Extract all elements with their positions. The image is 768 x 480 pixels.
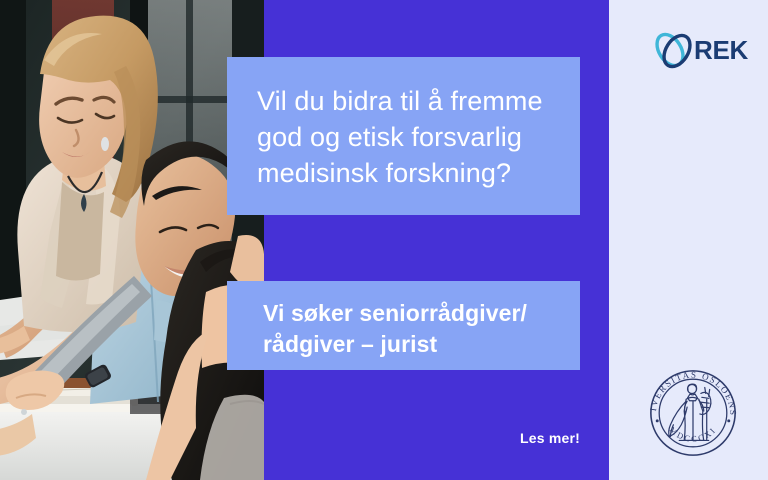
- job-advertisement-banner: Vil du bidra til å fremme god og etisk f…: [0, 0, 768, 480]
- uio-seal-logo[interactable]: UNIVERSITAS OSLOENSIS MDCCCXI: [644, 364, 742, 462]
- rek-wordmark: REK: [694, 37, 748, 63]
- rek-logo[interactable]: REK: [648, 24, 748, 76]
- rek-interlocking-ellipses-icon: [648, 25, 698, 75]
- job-title-text: Vi søker seniorrådgiver/ rådgiver – juri…: [263, 298, 560, 360]
- read-more-link[interactable]: Les mer!: [455, 430, 580, 446]
- headline-text: Vil du bidra til å fremme god og etisk f…: [257, 83, 554, 191]
- team-collaboration-photo: [0, 0, 264, 480]
- job-title-box: Vi søker seniorrådgiver/ rådgiver – juri…: [227, 281, 580, 370]
- headline-box: Vil du bidra til å fremme god og etisk f…: [227, 57, 580, 215]
